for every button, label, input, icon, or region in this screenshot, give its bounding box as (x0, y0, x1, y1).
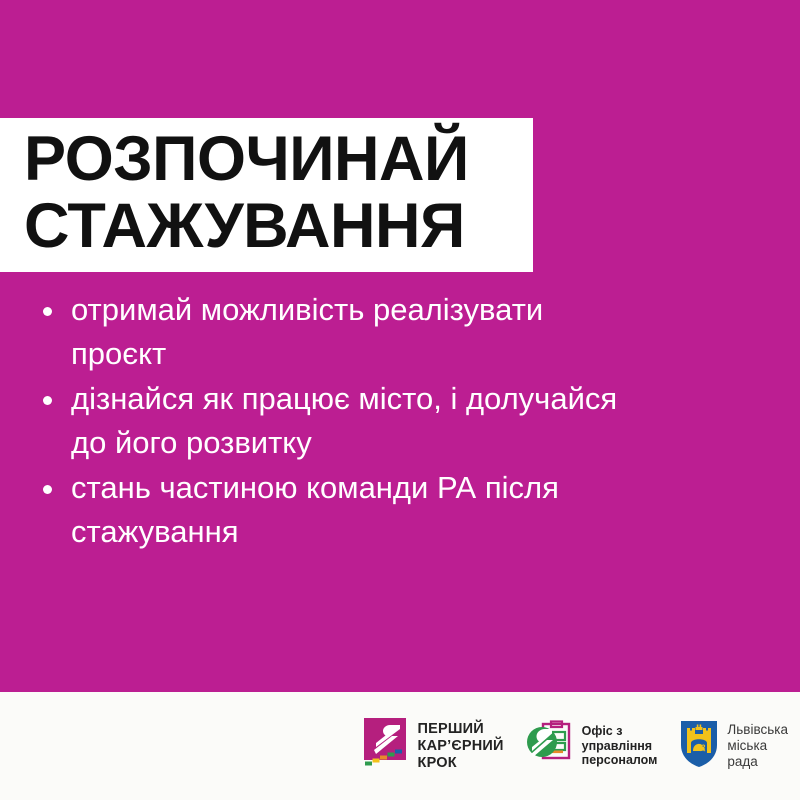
benefits-list: отримай можливість реалізувати проєкт ді… (38, 288, 658, 555)
logo-text-line: рада (727, 754, 788, 770)
page-title-line-2: СТАЖУВАННЯ (0, 193, 533, 272)
page-title: РОЗПОЧИНАЙ СТАЖУВАННЯ (0, 118, 533, 272)
logo-ofis-z-upravlinnia-personalom: Офіс з управління персоналом (526, 719, 658, 774)
logo-lviv-text: Львівська міська рада (727, 722, 788, 770)
page-title-line-1: РОЗПОЧИНАЙ (0, 118, 533, 193)
list-item: отримай можливість реалізувати проєкт (38, 288, 658, 376)
bullet-dot-icon (43, 485, 52, 494)
list-item-label: отримай можливість реалізувати проєкт (71, 288, 631, 376)
logo-text-line: Львівська (727, 722, 788, 738)
logo-pershyi-kariernyi-krok-text: ПЕРШИЙ КАР’ЄРНИЙ КРОК (418, 721, 504, 772)
logo-text-line: управління (582, 739, 658, 754)
list-item: стань частиною команди РА після стажуван… (38, 466, 658, 554)
logo-ofis-text: Офіс з управління персоналом (582, 724, 658, 768)
list-item: дізнайся як працює місто, і долучайся до… (38, 377, 658, 465)
logo-text-line: КРОК (418, 755, 504, 772)
bullet-dot-icon (43, 396, 52, 405)
list-item-label: дізнайся як працює місто, і долучайся до… (71, 377, 631, 465)
logo-text-line: КАР’ЄРНИЙ (418, 738, 504, 755)
logo-lvivska-miska-rada: Львівська міська рада (679, 719, 788, 774)
list-item-label: стань частиною команди РА після стажуван… (71, 466, 631, 554)
lviv-coat-of-arms-icon (679, 719, 719, 774)
poster-canvas: РОЗПОЧИНАЙ СТАЖУВАННЯ отримай можливість… (0, 0, 800, 800)
stairs-figure-icon (364, 718, 410, 775)
clipboard-person-icon (526, 719, 574, 774)
logo-text-line: персоналом (582, 753, 658, 768)
logo-text-line: ПЕРШИЙ (418, 721, 504, 738)
logo-pershyi-kariernyi-krok: ПЕРШИЙ КАР’ЄРНИЙ КРОК (364, 718, 504, 775)
footer-logo-bar: ПЕРШИЙ КАР’ЄРНИЙ КРОК Офіс (0, 692, 800, 800)
logo-text-line: Офіс з (582, 724, 658, 739)
bullet-dot-icon (43, 307, 52, 316)
logo-text-line: міська (727, 738, 788, 754)
